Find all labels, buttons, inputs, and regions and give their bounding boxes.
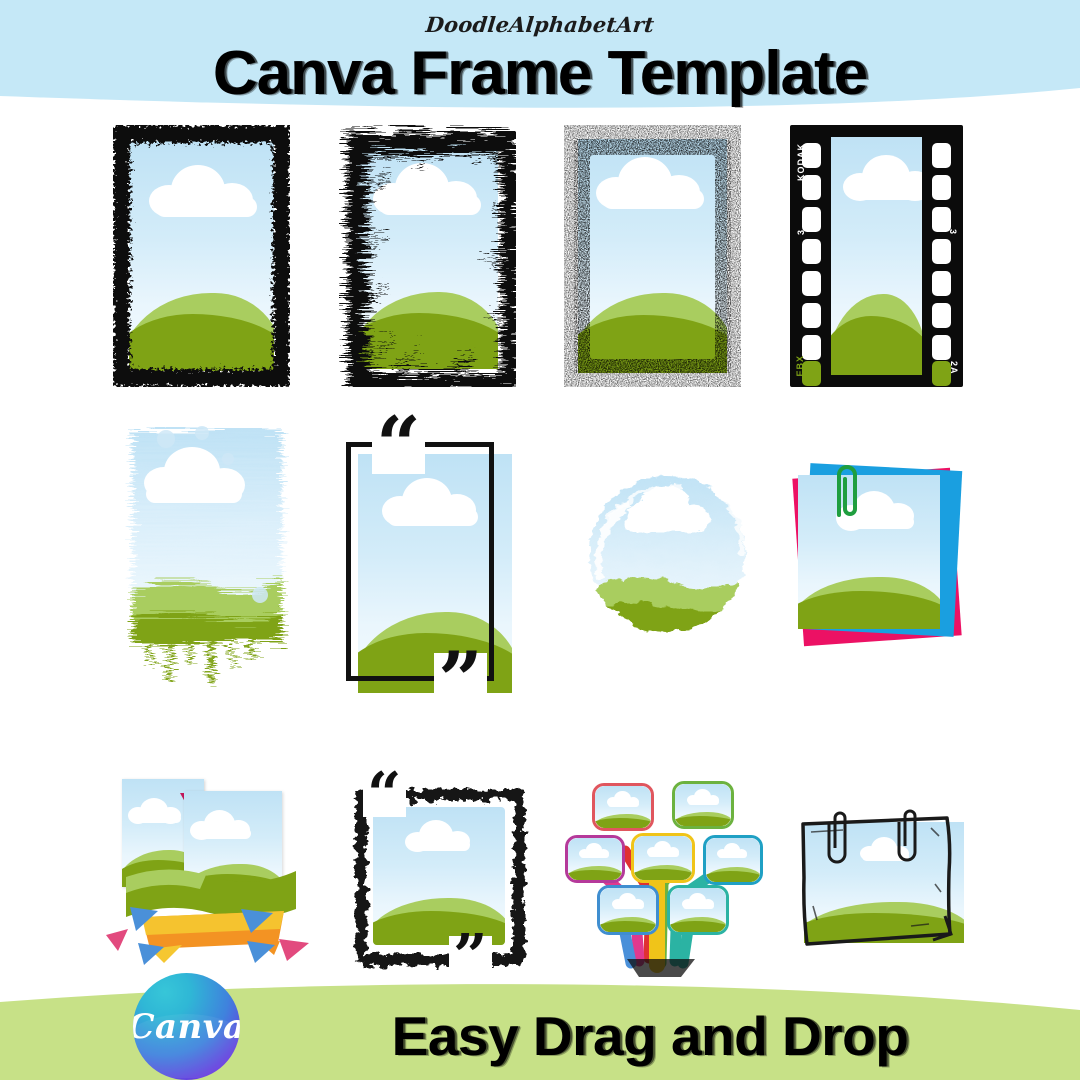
film-left-number: 3 xyxy=(796,229,806,235)
frame-brush-circle[interactable] xyxy=(568,458,766,656)
tree-node-6[interactable] xyxy=(597,885,659,935)
cloud-icon xyxy=(717,843,749,857)
frame-quote-thin[interactable]: “ ” xyxy=(338,428,520,693)
film-frame-code: 2A xyxy=(949,361,959,375)
poster-canvas: DoodleAlphabetArt Canva Frame Template xyxy=(0,0,1080,1080)
photo-paper xyxy=(798,475,940,629)
frame-doodle-note[interactable] xyxy=(795,808,975,953)
brand-wordmark: DoodleAlphabetArt xyxy=(0,12,1080,37)
grunge-border-art xyxy=(113,125,290,387)
paint-drip-art xyxy=(120,423,295,688)
tree-node-5[interactable] xyxy=(703,835,763,885)
tree-node-1[interactable] xyxy=(592,783,654,831)
cloud-icon xyxy=(128,797,184,823)
canva-logo-label: Canva xyxy=(133,1007,240,1047)
cloud-icon xyxy=(647,841,681,856)
page-title: Canva Frame Template xyxy=(0,38,1080,109)
frame-filmstrip[interactable]: KODAK 3 EBX 3 2A xyxy=(790,125,963,387)
cloud-icon xyxy=(579,843,611,857)
frame-ribbon-cards[interactable] xyxy=(100,773,315,988)
brush-circle-art xyxy=(568,458,766,656)
speckle-border-art xyxy=(564,125,741,387)
quote-open-mark: “ xyxy=(363,774,406,817)
cloud-icon xyxy=(682,893,716,908)
quote-open-mark: “ xyxy=(372,418,425,474)
frame-rainbow-tree[interactable] xyxy=(565,773,765,988)
frame-grunge-rough[interactable] xyxy=(113,125,290,387)
cloud-icon xyxy=(607,791,641,806)
cloud-icon xyxy=(843,153,922,199)
tree-node-7[interactable] xyxy=(667,885,729,935)
cloud-icon xyxy=(687,789,721,804)
tree-node-2[interactable] xyxy=(672,781,734,829)
film-brand-label: KODAK xyxy=(796,143,806,181)
doodle-outline-art xyxy=(795,808,975,953)
paperclip-icon xyxy=(828,459,862,521)
tree-node-3[interactable] xyxy=(565,835,625,883)
cloud-icon xyxy=(190,809,254,839)
film-stock-code: EBX xyxy=(795,355,805,377)
quote-close-mark: ” xyxy=(434,653,487,709)
footer-title: Easy Drag and Drop xyxy=(220,1004,1080,1068)
frame-brush-square[interactable]: “ ” xyxy=(345,780,535,975)
film-right-number: 3 xyxy=(948,229,958,235)
frame-scratch-brush[interactable] xyxy=(339,125,516,387)
frame-speckle[interactable] xyxy=(564,125,741,387)
frame-paint-drip[interactable] xyxy=(120,423,295,688)
cloud-icon xyxy=(612,893,646,908)
frame-stacked-paper[interactable] xyxy=(790,453,985,658)
frame-gallery: KODAK 3 EBX 3 2A xyxy=(0,118,1080,998)
scratch-border-art xyxy=(339,125,516,387)
quote-close-mark: ” xyxy=(449,936,492,979)
tree-node-4[interactable] xyxy=(631,833,695,883)
